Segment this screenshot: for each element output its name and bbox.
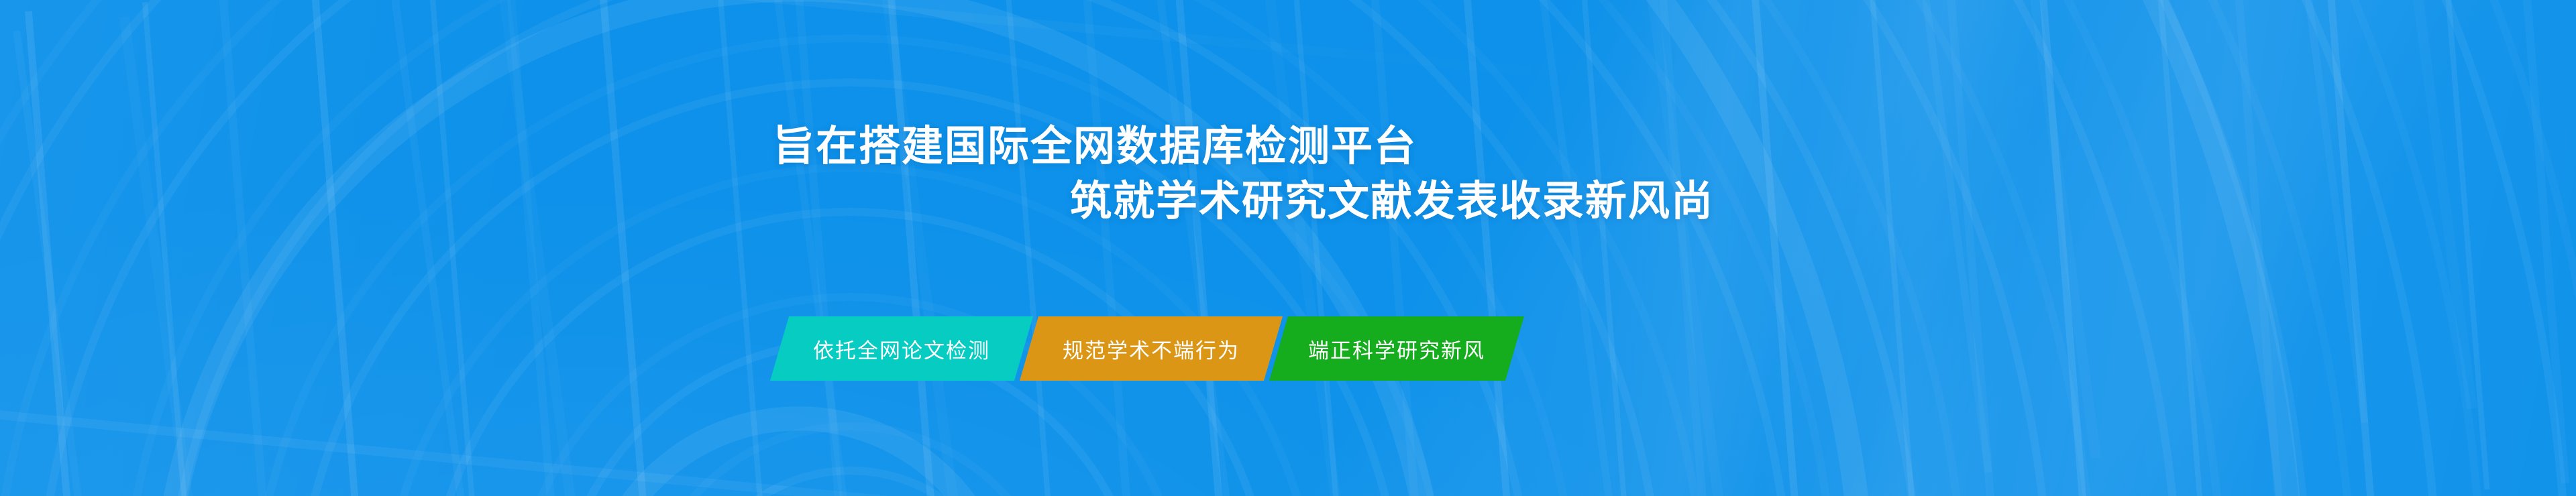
feature-badge-academic-misconduct[interactable]: 规范学术不端行为 [1020,316,1283,381]
banner-content: 旨在搭建国际全网数据库检测平台 筑就学术研究文献发表收录新风尚 依托全网论文检测… [0,0,2576,496]
feature-badge-academic-misconduct-label: 规范学术不端行为 [1063,334,1240,364]
feature-badge-research-ethos-label: 端正科学研究新风 [1308,334,1485,364]
feature-badge-paper-detection[interactable]: 依托全网论文检测 [770,316,1033,381]
feature-badge-group: 依托全网论文检测 规范学术不端行为 端正科学研究新风 [770,316,1524,381]
headline-line-1: 旨在搭建国际全网数据库检测平台 [773,119,2576,174]
promo-banner: 旨在搭建国际全网数据库检测平台 筑就学术研究文献发表收录新风尚 依托全网论文检测… [0,0,2576,496]
feature-badge-research-ethos[interactable]: 端正科学研究新风 [1269,316,1524,381]
feature-badge-paper-detection-label: 依托全网论文检测 [813,334,990,364]
headline-group: 旨在搭建国际全网数据库检测平台 筑就学术研究文献发表收录新风尚 [0,119,2576,229]
headline-line-2: 筑就学术研究文献发表收录新风尚 [1070,174,2576,229]
